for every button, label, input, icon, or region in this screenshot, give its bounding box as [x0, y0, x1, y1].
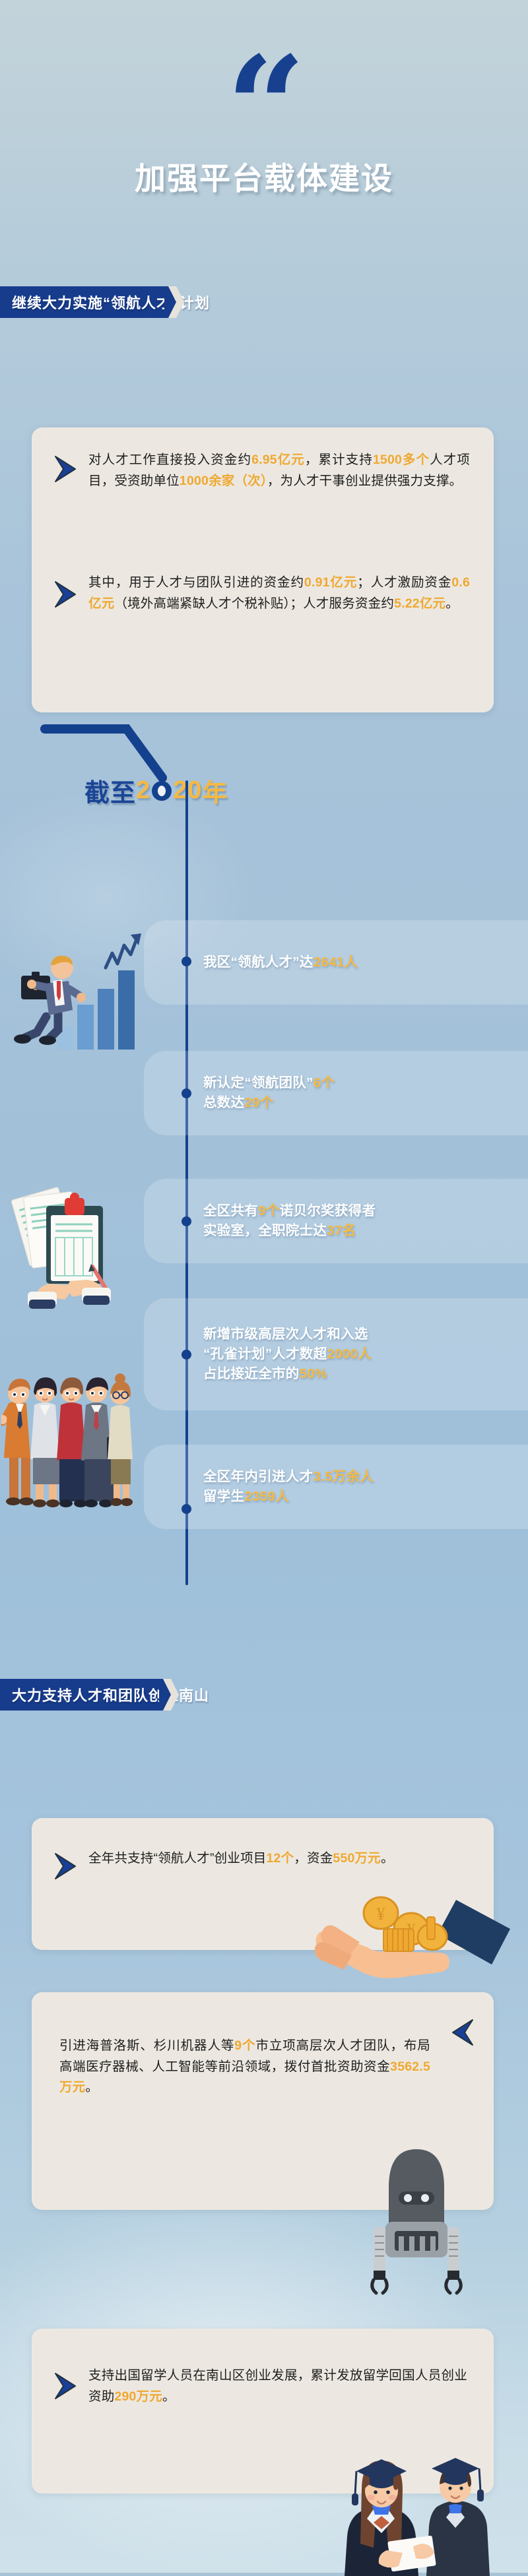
body-text-run: 引进海普洛斯、杉川机器人等 [59, 2038, 234, 2053]
body-text-run: 对人才工作直接投入资金约 [88, 453, 251, 467]
as-of-digit-1: 2 [136, 776, 150, 805]
highlight-figure: 6.95亿元 [251, 453, 305, 467]
highlight-figure: 0.91亿元 [304, 575, 357, 590]
body-text-run: 全年共支持“领航人才”创业项目 [88, 1851, 267, 1866]
body-text-run: ，累计支持 [305, 453, 373, 467]
highlight-figure: 1000余家（次） [180, 474, 267, 488]
people-group-icon [1, 1359, 137, 1517]
body-text-run: 留学生 [203, 1489, 244, 1504]
timeline-card-4: 新增市级高层次人才和入选“孔雀计划”人才数超2000人占比接近全市的50% [144, 1298, 528, 1410]
as-of-prefix: 截至 [84, 772, 136, 809]
highlight-figure: 2641人 [313, 955, 358, 970]
chevron-right-icon [159, 1679, 179, 1711]
highlight-figure: 550万元 [333, 1851, 381, 1866]
timeline-text-line: 实验室，全职院士达37名 [203, 1221, 376, 1241]
timeline-text-line: 新增市级高层次人才和入选 [203, 1325, 372, 1344]
timeline-dot-1 [181, 957, 191, 966]
card-funding-paragraph-1: 对人才工作直接投入资金约6.95亿元，累计支持1500多个人才项目，受资助单位1… [88, 450, 470, 532]
as-of-zero-circle-icon [152, 781, 172, 801]
highlight-figure: 290万元 [114, 2389, 162, 2404]
highlight-figure: 12个 [267, 1851, 294, 1866]
body-text-run: ，资金 [294, 1851, 333, 1866]
timeline-card-2-text: 新认定“领航团队”6个总数达29个 [203, 1073, 335, 1112]
timeline-card-3-text: 全区共有9个诺贝尔奖获得者实验室，全职院士达37名 [203, 1201, 376, 1240]
body-text-run: 新增市级高层次人才和入选 [203, 1327, 368, 1342]
highlight-figure: 9个 [234, 2038, 255, 2053]
as-of-year-block: 截至 2 20 年 [0, 721, 528, 794]
timeline-text-line: 全区共有9个诺贝尔奖获得者 [203, 1201, 376, 1221]
highlight-figure: 50% [300, 1366, 327, 1381]
quote-mark-icon: “ [0, 38, 528, 144]
as-of-year-label: 截至 2 20 年 [84, 772, 228, 809]
highlight-figure: 9个 [258, 1203, 280, 1218]
highlight-figure: 3.5万余人 [313, 1469, 374, 1484]
body-text-run: 。 [162, 2389, 176, 2404]
timeline-card-5-text: 全区年内引进人才3.5万余人留学生2359人 [203, 1467, 374, 1506]
body-text-run: ，为人才干事创业提供强力支撑。 [267, 474, 463, 488]
graduate-students-icon [338, 2428, 528, 2576]
body-text-run: “孔雀计划”人才数超 [203, 1346, 327, 1362]
arrow-right-icon [53, 1852, 79, 1880]
highlight-figure: 29个 [244, 1095, 273, 1110]
card-startup-projects-paragraph: 全年共支持“领航人才”创业项目12个，资金550万元。 [88, 1848, 467, 1869]
section-banner-2-label: 大力支持人才和团队创业南山 [12, 1684, 209, 1705]
body-text-run: 我区“领航人才”达 [203, 955, 313, 970]
timeline-dot-4 [181, 1350, 191, 1360]
clipboard-documents-icon [8, 1168, 140, 1309]
body-text-run: 实验室，全职院士达 [203, 1223, 327, 1238]
arrow-right-icon [53, 581, 79, 608]
body-text-run: 诺贝尔奖获得者 [280, 1203, 376, 1218]
timeline-card-1-text: 我区“领航人才”达2641人 [203, 953, 358, 972]
timeline-card-1: 我区“领航人才”达2641人 [144, 920, 528, 1005]
body-text-run: 其中，用于人才与团队引进的资金约 [88, 575, 304, 590]
card-funding: 对人才工作直接投入资金约6.95亿元，累计支持1500多个人才项目，受资助单位1… [32, 427, 494, 712]
as-of-suffix: 年 [202, 772, 228, 809]
highlight-figure: 5.22亿元 [394, 596, 445, 611]
timeline-card-4-text: 新增市级高层次人才和入选“孔雀计划”人才数超2000人占比接近全市的50% [203, 1325, 372, 1383]
page-title: 加强平台载体建设 [0, 153, 528, 199]
hand-with-coins-icon: ¥ ¥ [300, 1888, 518, 1994]
card-funding-paragraph-2: 其中，用于人才与团队引进的资金约0.91亿元；人才激励资金0.6亿元（境外高端紧… [88, 573, 470, 614]
timeline-text-line: 我区“领航人才”达2641人 [203, 953, 358, 972]
card-teams-paragraph: 引进海普洛斯、杉川机器人等9个市立项高层次人才团队，布局高端医疗器械、人工智能等… [59, 2036, 430, 2098]
body-text-run: 。 [85, 2080, 98, 2094]
timeline-card-2: 新认定“领航团队”6个总数达29个 [144, 1051, 528, 1135]
timeline-dot-2 [181, 1088, 191, 1098]
timeline-card-3: 全区共有9个诺贝尔奖获得者实验室，全职院士达37名 [144, 1179, 528, 1263]
highlight-figure: 37名 [327, 1223, 356, 1238]
robot-icon [360, 2144, 473, 2296]
timeline-text-line: 新认定“领航团队”6个 [203, 1073, 335, 1093]
body-text-run: 全区年内引进人才 [203, 1469, 313, 1484]
section-banner-1: 继续大力实施“领航人才”计划 [0, 286, 169, 318]
timeline-text-line: 留学生2359人 [203, 1487, 374, 1507]
timeline-dot-5 [181, 1504, 191, 1514]
timeline-text-line: “孔雀计划”人才数超2000人 [203, 1344, 372, 1364]
body-text-run: （境外高端紧缺人才个税补贴）；人才服务资金约 [114, 596, 394, 611]
timeline-text-line: 占比接近全市的50% [203, 1364, 372, 1384]
section-banner-2: 大力支持人才和团队创业南山 [0, 1679, 164, 1711]
arrow-right-icon [53, 2372, 79, 2400]
running-businessman-bar-chart-icon [12, 920, 150, 1052]
svg-text:¥: ¥ [377, 1904, 385, 1924]
timeline-dot-3 [181, 1216, 191, 1226]
card-overseas-paragraph: 支持出国留学人员在南山区创业发展，累计发放留学回国人员创业资助290万元。 [88, 2366, 467, 2407]
body-text-run: 全区共有 [203, 1203, 258, 1218]
chevron-right-icon [164, 286, 184, 318]
timeline-text-line: 全区年内引进人才3.5万余人 [203, 1467, 374, 1487]
highlight-figure: 1500多个 [373, 453, 430, 467]
body-text-run: 。 [381, 1851, 394, 1866]
body-text-run: 占比接近全市的 [203, 1366, 300, 1381]
body-text-run: 总数达 [203, 1095, 244, 1110]
timeline-text-line: 总数达29个 [203, 1093, 335, 1113]
highlight-figure: 2000人 [327, 1346, 372, 1362]
body-text-run: ；人才激励资金 [357, 575, 451, 590]
body-text-run: 新认定“领航团队” [203, 1075, 313, 1090]
highlight-figure: 2359人 [244, 1489, 289, 1504]
timeline-card-5: 全区年内引进人才3.5万余人留学生2359人 [144, 1445, 528, 1529]
highlight-figure: 6个 [313, 1075, 335, 1090]
arrow-left-icon [449, 2019, 475, 2046]
body-text-run: 。 [445, 596, 459, 611]
hero-section: “ 加强平台载体建设 [0, 0, 528, 264]
arrow-right-icon [53, 455, 79, 483]
